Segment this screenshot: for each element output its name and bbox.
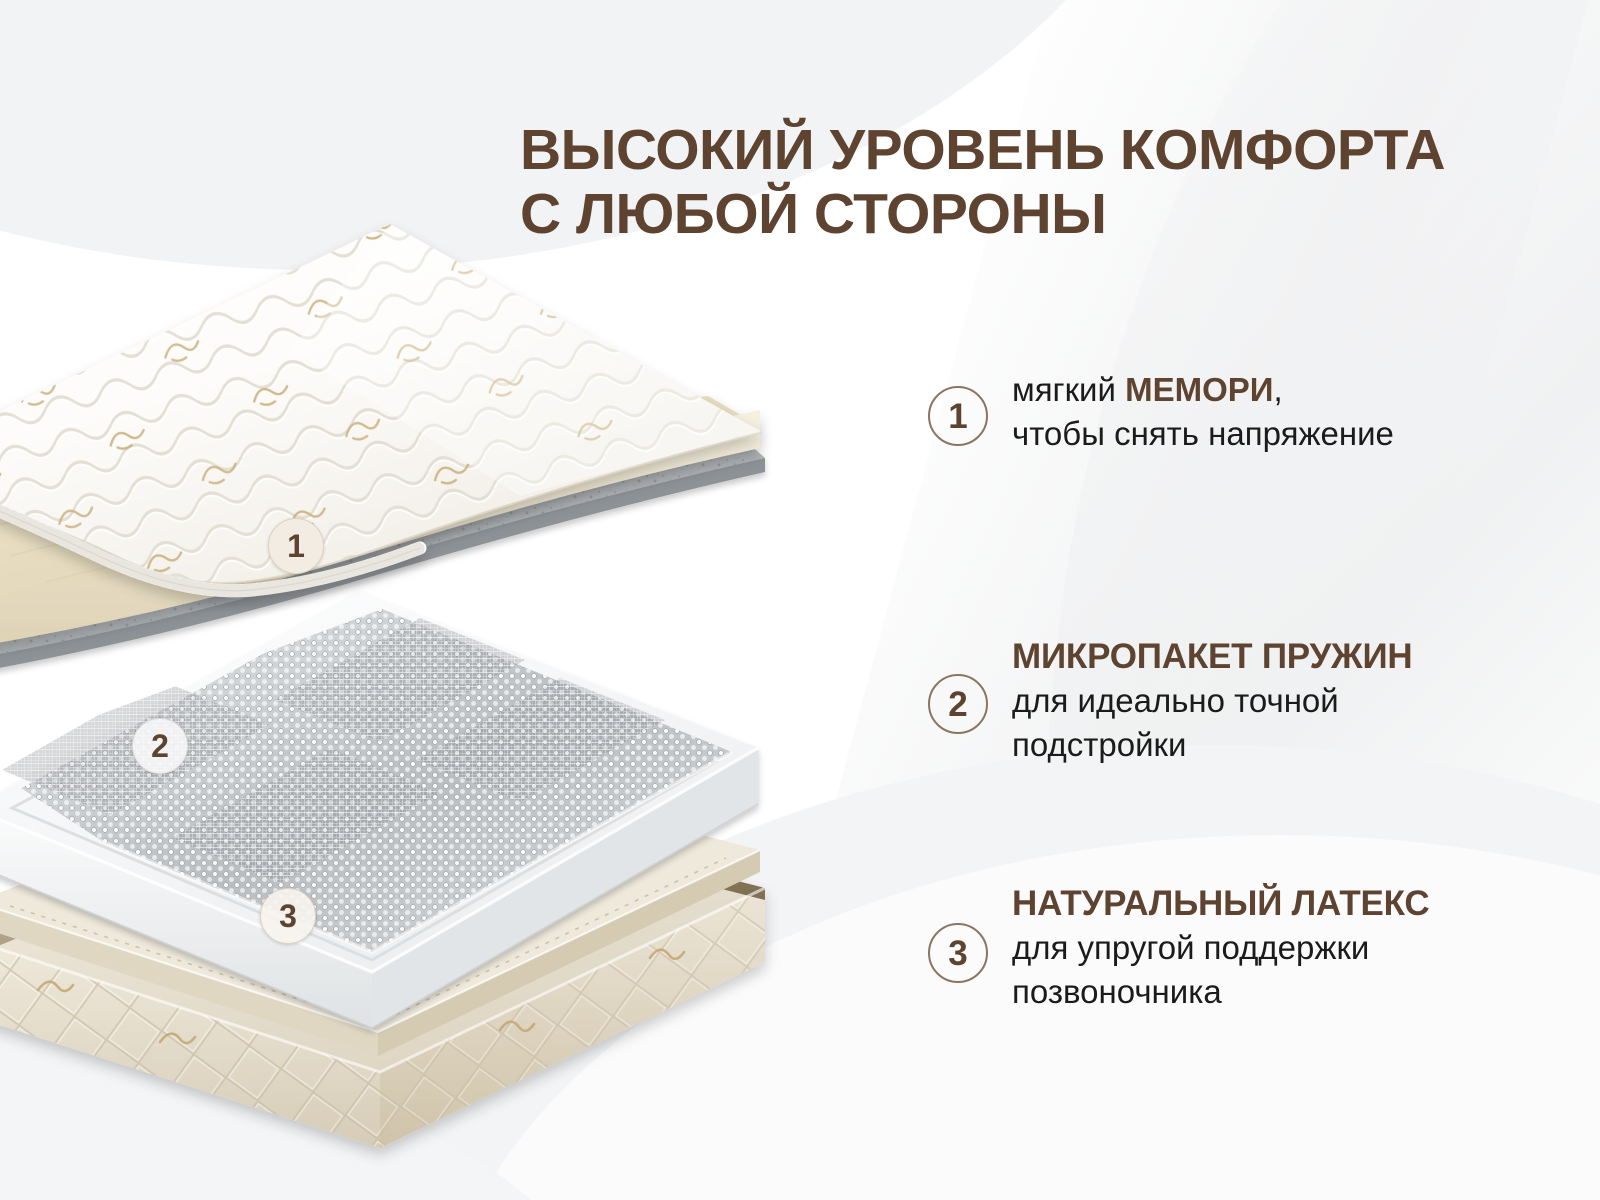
feature-list: 1 мягкий МЕМОРИ, чтобы снять напряжение … bbox=[928, 368, 1568, 1014]
feature-item-memory: 1 мягкий МЕМОРИ, чтобы снять напряжение bbox=[928, 368, 1568, 488]
feature-1-prefix: мягкий bbox=[1012, 371, 1125, 408]
feature-1-title-line: мягкий МЕМОРИ, bbox=[1012, 368, 1568, 412]
page-title-line-1: ВЫСОКИЙ УРОВЕНЬ КОМФОРТА bbox=[520, 118, 1445, 182]
mattress-layer-quilted-cover bbox=[0, 224, 762, 591]
mattress-badge-1: 1 bbox=[268, 518, 324, 574]
mattress-badge-2: 2 bbox=[132, 718, 188, 774]
mattress-badge-3: 3 bbox=[260, 888, 316, 944]
infographic-canvas: ВЫСОКИЙ УРОВЕНЬ КОМФОРТА С ЛЮБОЙ СТОРОНЫ bbox=[0, 0, 1600, 1200]
feature-badge-2: 2 bbox=[928, 674, 988, 734]
feature-1-keyword: МЕМОРИ bbox=[1125, 371, 1273, 408]
feature-item-springs: 2 МИКРОПАКЕТ ПРУЖИН для идеально точной … bbox=[928, 636, 1568, 767]
mattress-cutaway-illustration: 1 2 3 bbox=[0, 200, 920, 1140]
feature-2-desc-line-2: подстройки bbox=[1012, 723, 1568, 767]
feature-1-desc-line-1: чтобы снять напряжение bbox=[1012, 412, 1568, 456]
feature-badge-3: 3 bbox=[928, 923, 988, 983]
feature-1-suffix: , bbox=[1273, 371, 1282, 408]
feature-3-desc-line-1: для упругой поддержки bbox=[1012, 926, 1568, 970]
feature-badge-1: 1 bbox=[928, 386, 988, 446]
feature-item-latex: 3 НАТУРАЛЬНЫЙ ЛАТЕКС для упругой поддерж… bbox=[928, 883, 1568, 1014]
feature-3-title: НАТУРАЛЬНЫЙ ЛАТЕКС bbox=[1012, 883, 1568, 924]
feature-3-desc-line-2: позвоночника bbox=[1012, 970, 1568, 1014]
feature-2-title: МИКРОПАКЕТ ПРУЖИН bbox=[1012, 636, 1568, 677]
feature-2-desc-line-1: для идеально точной bbox=[1012, 679, 1568, 723]
